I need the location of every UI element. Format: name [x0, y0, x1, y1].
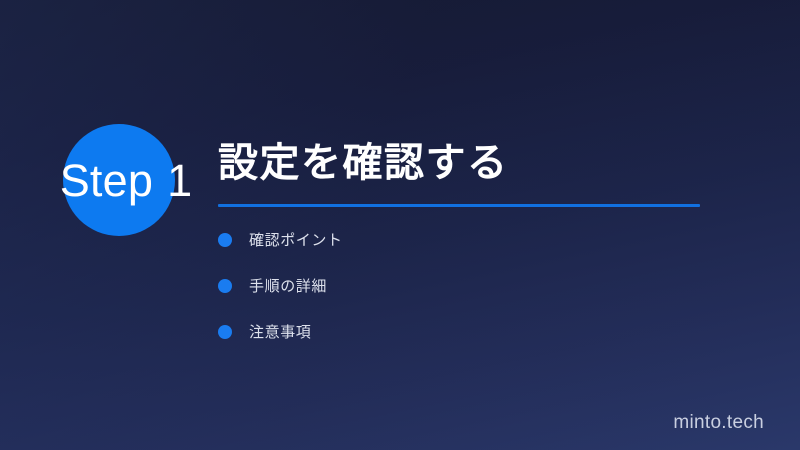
bullet-dot-icon: [218, 279, 232, 293]
list-item-label: 手順の詳細: [249, 279, 327, 294]
list-item-label: 注意事項: [249, 325, 311, 340]
list-item: 注意事項: [218, 316, 738, 348]
title-divider: [218, 204, 700, 207]
step-number: 1: [167, 158, 192, 203]
list-item-label: 確認ポイント: [249, 233, 343, 248]
list-item: 確認ポイント: [218, 224, 738, 256]
watermark-brand: minto.tech: [673, 412, 764, 434]
slide-canvas: Step 1 設定を確認する 確認ポイント 手順の詳細 注意事項 minto.t…: [0, 0, 800, 450]
step-badge: Step 1: [36, 124, 216, 236]
bullet-dot-icon: [218, 233, 232, 247]
page-title: 設定を確認する: [218, 140, 738, 186]
step-word: Step: [60, 158, 153, 203]
bullet-dot-icon: [218, 325, 232, 339]
step-label: Step 1: [36, 124, 216, 236]
content-column: 設定を確認する 確認ポイント 手順の詳細 注意事項: [218, 140, 738, 362]
bullet-list: 確認ポイント 手順の詳細 注意事項: [218, 224, 738, 348]
list-item: 手順の詳細: [218, 270, 738, 302]
